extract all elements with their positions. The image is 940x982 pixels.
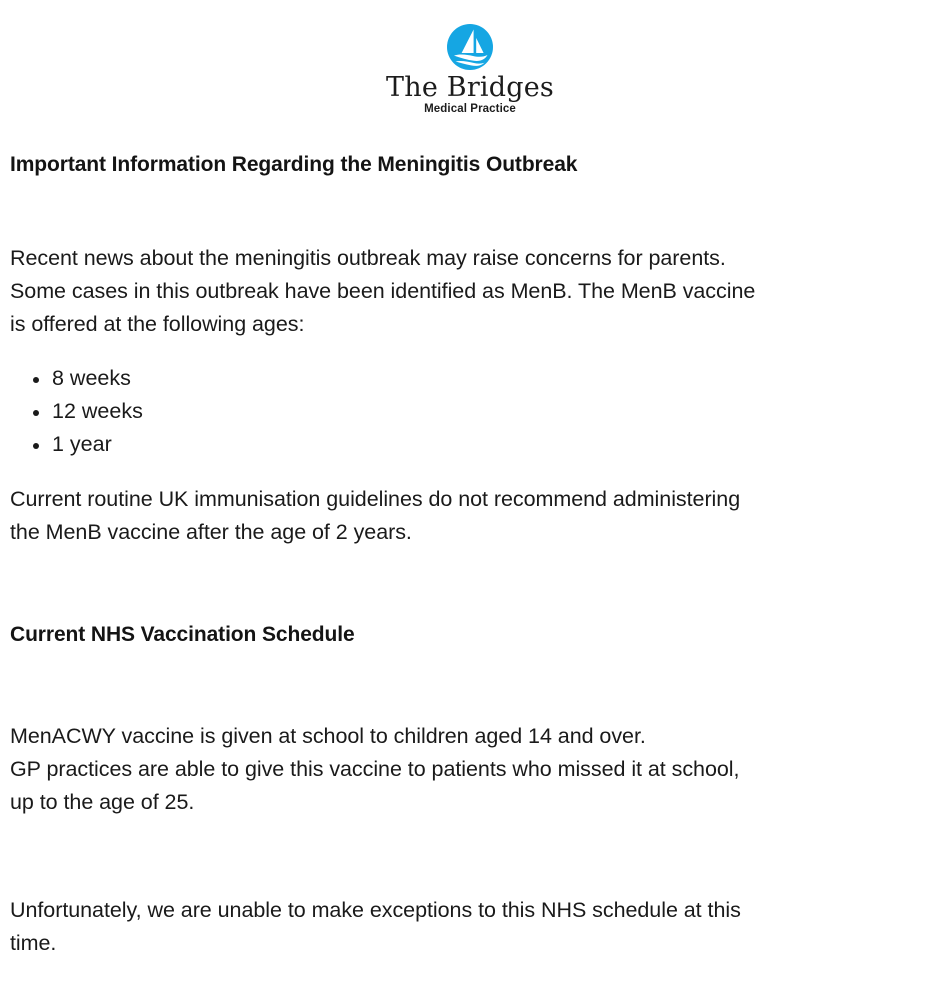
spacer xyxy=(10,570,936,602)
paragraph-line: Some cases in this outbreak have been id… xyxy=(10,275,936,308)
paragraph-line: the MenB vaccine after the age of 2 year… xyxy=(10,516,936,549)
paragraph-line: time. xyxy=(10,927,936,960)
spacer xyxy=(10,667,936,699)
practice-tagline: Medical Practice xyxy=(424,103,516,115)
list-item: 12 weeks xyxy=(10,395,936,428)
page-title: Important Information Regarding the Meni… xyxy=(10,150,936,180)
paragraph-line: Recent news about the meningitis outbrea… xyxy=(10,242,936,275)
paragraph-line: is offered at the following ages: xyxy=(10,308,936,341)
paragraph-line: GP practices are able to give this vacci… xyxy=(10,753,936,786)
paragraph-line: Current routine UK immunisation guidelin… xyxy=(10,483,936,516)
paragraph-line: Unfortunately, we are unable to make exc… xyxy=(10,894,936,927)
intro-paragraph: Recent news about the meningitis outbrea… xyxy=(10,242,936,341)
list-item: 8 weeks xyxy=(10,362,936,395)
sailboat-in-circle-logo-icon xyxy=(443,22,497,72)
document-body: Important Information Regarding the Meni… xyxy=(10,136,936,982)
guidelines-paragraph: Current routine UK immunisation guidelin… xyxy=(10,483,936,549)
list-item: 1 year xyxy=(10,428,936,461)
paragraph-line: up to the age of 25. xyxy=(10,786,936,819)
practice-name: The Bridges xyxy=(386,74,554,102)
paragraph-line: MenACWY vaccine is given at school to ch… xyxy=(10,720,936,753)
closing-paragraph: Unfortunately, we are unable to make exc… xyxy=(10,894,936,960)
spacer xyxy=(10,841,936,873)
spacer xyxy=(10,194,936,220)
document-page: The Bridges Medical Practice Important I… xyxy=(0,0,940,788)
menacwy-paragraph: MenACWY vaccine is given at school to ch… xyxy=(10,720,936,819)
menb-age-list: 8 weeks 12 weeks 1 year xyxy=(10,362,936,461)
practice-letterhead: The Bridges Medical Practice xyxy=(0,0,940,115)
section-title-vaccination-schedule: Current NHS Vaccination Schedule xyxy=(10,620,936,650)
